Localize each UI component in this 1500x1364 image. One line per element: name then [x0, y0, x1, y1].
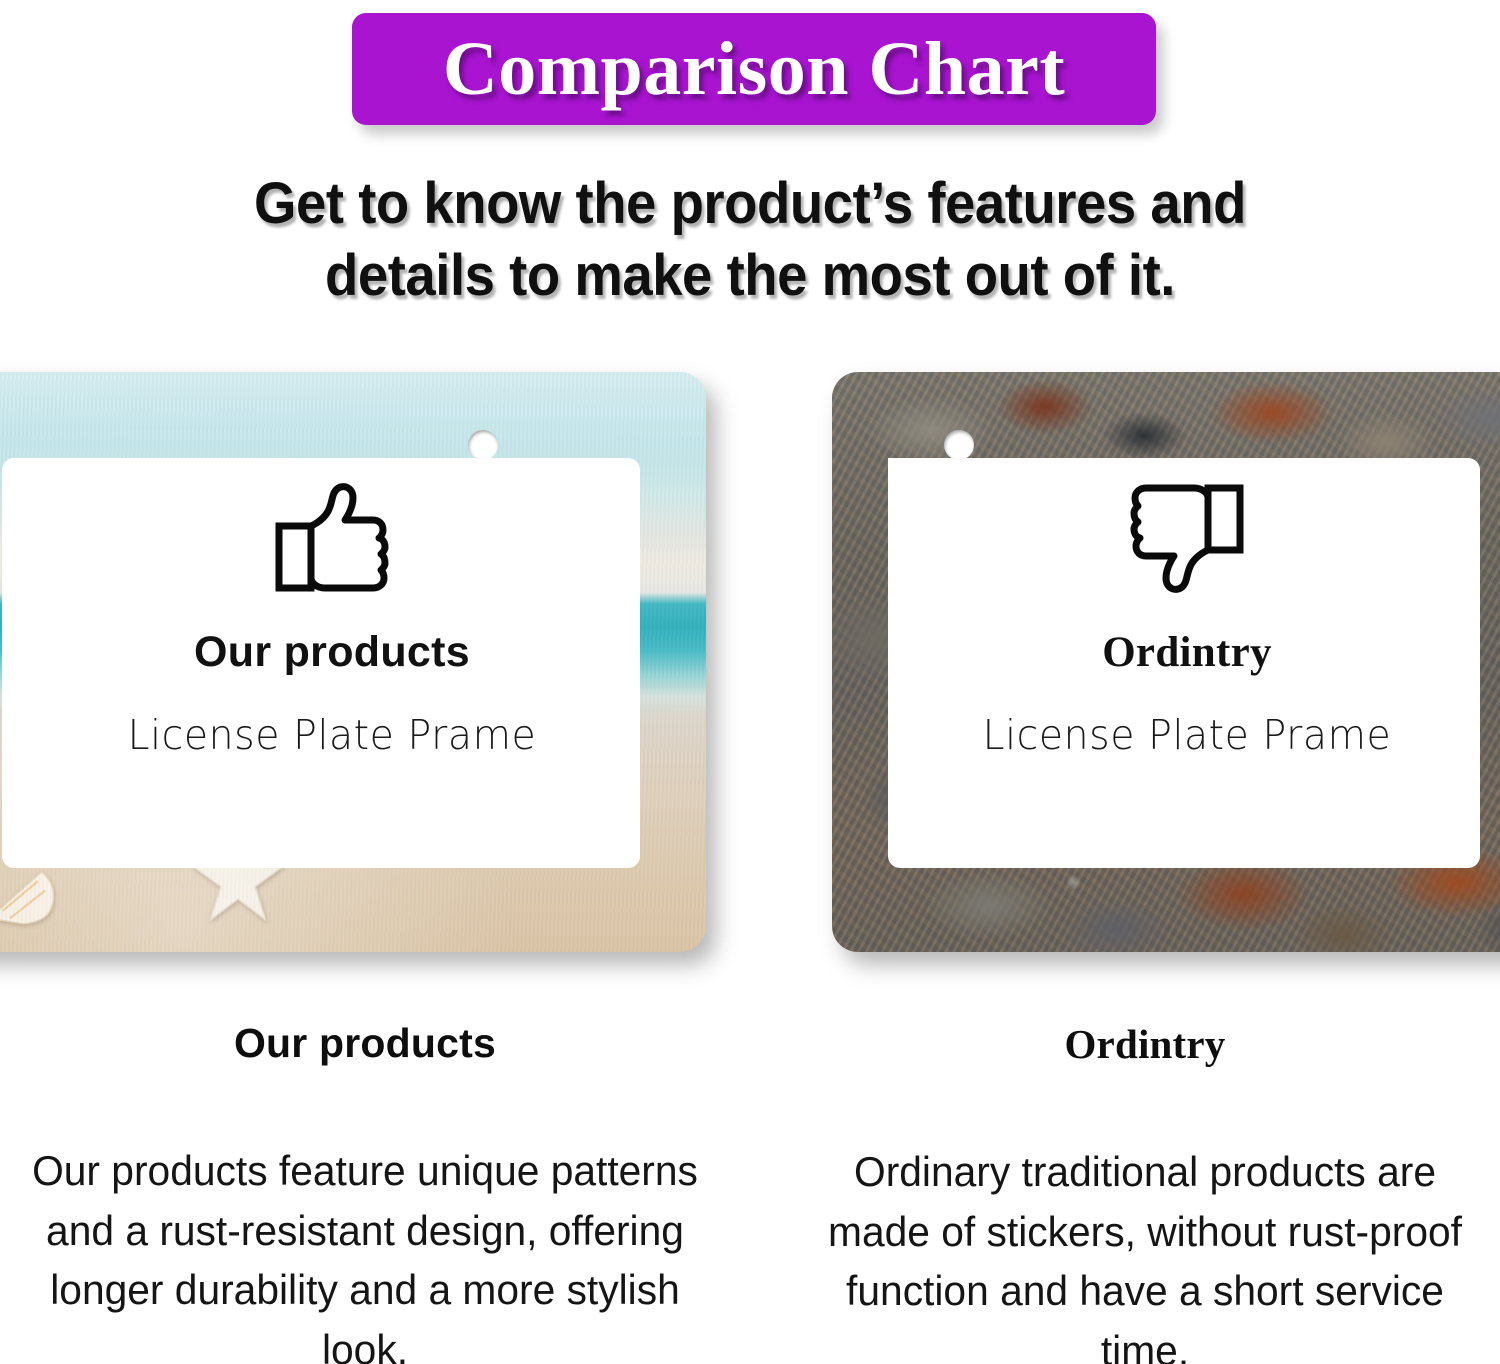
description-column-ours: Our products Our products feature unique… — [20, 1020, 710, 1364]
card-title-ours: Our products — [0, 628, 706, 677]
thumbs-up-icon — [273, 482, 391, 594]
card-title-ordinary: Ordintry — [832, 628, 1500, 677]
thumbs-down-icon — [1128, 482, 1246, 594]
column-heading-ours: Our products — [20, 1020, 710, 1067]
comparison-chart-page: Comparison Chart Get to know the product… — [0, 0, 1500, 1364]
card-subtitle-ordinary: License Plate Prame — [846, 711, 1500, 759]
card-subtitle-ours: License Plate Prame — [0, 711, 691, 759]
product-frame-ours: Our products License Plate Prame — [0, 372, 706, 952]
product-frame-ordinary: Ordintry License Plate Prame — [832, 372, 1500, 952]
card-content-ordinary: Ordintry License Plate Prame — [832, 482, 1500, 759]
screw-hole — [944, 430, 974, 460]
column-body-ordinary: Ordinary traditional products are made o… — [810, 1142, 1479, 1364]
column-body-ours: Our products feature unique patterns and… — [30, 1141, 699, 1364]
column-heading-ordinary: Ordintry — [800, 1020, 1490, 1068]
seashell-icon — [0, 866, 60, 928]
description-column-ordinary: Ordintry Ordinary traditional products a… — [800, 1020, 1490, 1364]
card-content-ours: Our products License Plate Prame — [0, 482, 706, 759]
screw-hole — [468, 430, 498, 460]
